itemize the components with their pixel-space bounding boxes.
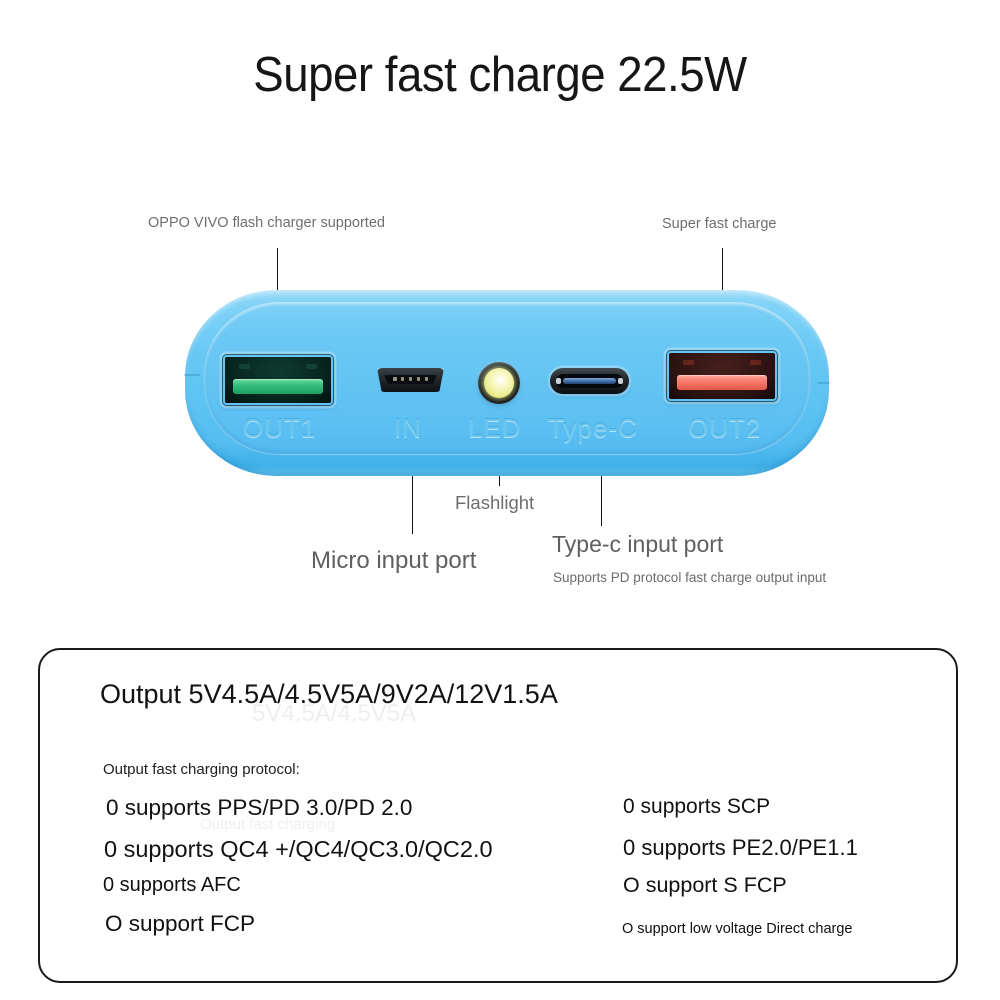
device-seam-left xyxy=(184,374,200,376)
usb-c-shell xyxy=(550,368,629,394)
spec-protocol-right-3: O support S FCP xyxy=(623,873,787,898)
spec-protocol-right-4: O support low voltage Direct charge xyxy=(622,921,853,937)
spec-protocol-left-1: 0 supports PPS/PD 3.0/PD 2.0 xyxy=(106,795,412,821)
usb-a-port-out1 xyxy=(222,354,334,406)
port-label-out2: OUT2 xyxy=(688,413,761,444)
usb-tongue-out1 xyxy=(233,379,323,394)
port-label-typec: Type-C xyxy=(548,413,638,444)
usb-cavity-out1 xyxy=(225,357,331,403)
usb-c-latch-left xyxy=(556,378,561,384)
callout-oppo-vivo: OPPO VIVO flash charger supported xyxy=(148,215,385,231)
callout-typec-input-port-sub: Supports PD protocol fast charge output … xyxy=(553,570,826,585)
usb-pins-out1 xyxy=(239,364,317,369)
micro-usb-shell xyxy=(377,368,444,392)
usb-c-port xyxy=(550,368,629,394)
led-flashlight-port xyxy=(478,362,520,404)
callout-super-fast-charge: Super fast charge xyxy=(662,216,776,232)
usb-c-tongue xyxy=(563,378,616,384)
spec-protocol-right-2: 0 supports PE2.0/PE1.1 xyxy=(623,835,858,861)
callout-flashlight: Flashlight xyxy=(455,492,534,514)
spec-protocol-heading: Output fast charging protocol: xyxy=(103,761,300,778)
spec-protocol-left-4: O support FCP xyxy=(105,911,255,937)
led-emitter-icon xyxy=(484,368,514,398)
port-label-led: LED xyxy=(468,413,522,444)
callout-typec-input-port: Type-c input port xyxy=(552,531,723,558)
page-title: Super fast charge 22.5W xyxy=(35,42,965,108)
led-bezel xyxy=(478,362,520,404)
usb-c-latch-right xyxy=(618,378,623,384)
micro-usb-port-in xyxy=(377,368,444,392)
spec-protocol-left-3: 0 supports AFC xyxy=(103,874,241,897)
usb-pins-out2 xyxy=(683,360,761,365)
usb-cavity-out2 xyxy=(669,353,775,399)
port-label-out1: OUT1 xyxy=(243,413,316,444)
spec-protocol-left-2: 0 supports QC4 +/QC4/QC3.0/QC2.0 xyxy=(104,836,493,863)
device-seam-right xyxy=(817,382,830,384)
micro-usb-pins xyxy=(393,377,428,381)
callout-micro-input-port: Micro input port xyxy=(311,547,476,575)
usb-a-port-out2 xyxy=(666,350,778,402)
spec-output-line: Output 5V4.5A/4.5V5A/9V2A/12V1.5A xyxy=(100,679,558,710)
port-label-in: IN xyxy=(394,413,422,444)
spec-protocol-right-1: 0 supports SCP xyxy=(623,795,770,819)
usb-tongue-out2 xyxy=(677,375,767,390)
